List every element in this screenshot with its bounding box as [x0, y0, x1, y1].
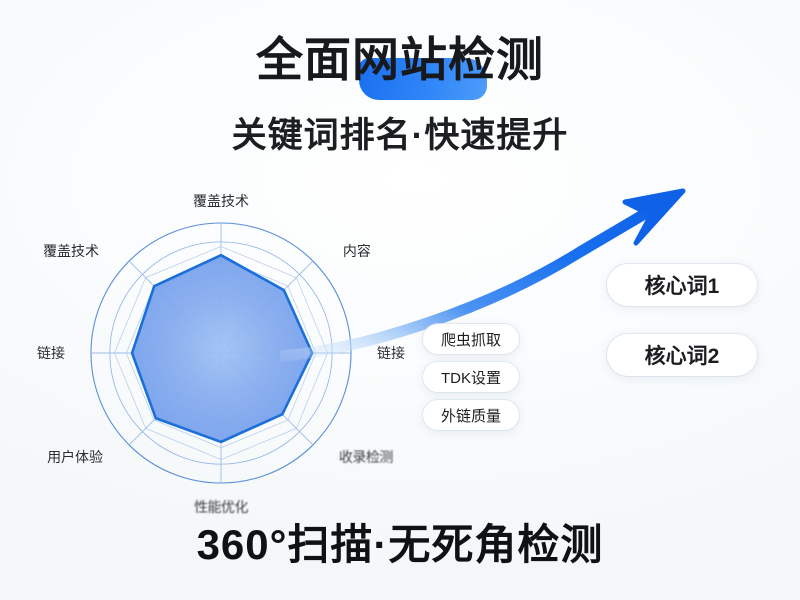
page-footer-text: 360°扫描·无死角检测: [0, 524, 800, 566]
feature-pill-crawl-label: 爬虫抓取: [441, 329, 501, 350]
page-title: 全面网站检测: [0, 36, 800, 83]
feature-pill-crawl[interactable]: 爬虫抓取: [423, 324, 519, 354]
radar-axis-label-3: 收录检测: [339, 450, 393, 464]
page-subtitle: 关键词排名·快速提升: [0, 118, 800, 153]
feature-pill-tdk[interactable]: TDK设置: [423, 362, 519, 392]
radar-axis-label-5: 用户体验: [47, 450, 103, 464]
poster-canvas: 全面网站检测 关键词排名·快速提升 覆盖技术内容链接收录检测性能优化用户体验链接…: [0, 0, 800, 600]
keyword-pill-2[interactable]: 核心词2: [607, 334, 757, 376]
title-highlight-word: 网站: [352, 33, 448, 86]
radar-chart: 覆盖技术内容链接收录检测性能优化用户体验链接覆盖技术: [40, 196, 400, 506]
title-suffix: 检测: [448, 33, 544, 86]
radar-axis-label-4: 性能优化: [194, 500, 248, 514]
radar-axis-label-1: 内容: [343, 244, 371, 258]
keyword-pill-2-label: 核心词2: [645, 340, 720, 370]
feature-pill-backlink-label: 外链质量: [441, 405, 501, 426]
feature-pill-backlink[interactable]: 外链质量: [423, 400, 519, 430]
arrow-head: [625, 191, 683, 243]
radar-series-polygon: [132, 255, 312, 442]
radar-axis-label-7: 覆盖技术: [43, 244, 99, 258]
radar-axis-label-0: 覆盖技术: [193, 194, 249, 208]
page-title-inner: 全面网站检测: [256, 36, 544, 83]
feature-pill-tdk-label: TDK设置: [441, 367, 501, 388]
keyword-pill-1-label: 核心词1: [645, 270, 720, 300]
radar-axis-label-6: 链接: [37, 346, 65, 360]
radar-axis-label-2: 链接: [377, 346, 405, 360]
keyword-pill-1[interactable]: 核心词1: [607, 264, 757, 306]
page-title-text: 全面网站检测: [256, 33, 544, 86]
title-prefix: 全面: [256, 33, 352, 86]
